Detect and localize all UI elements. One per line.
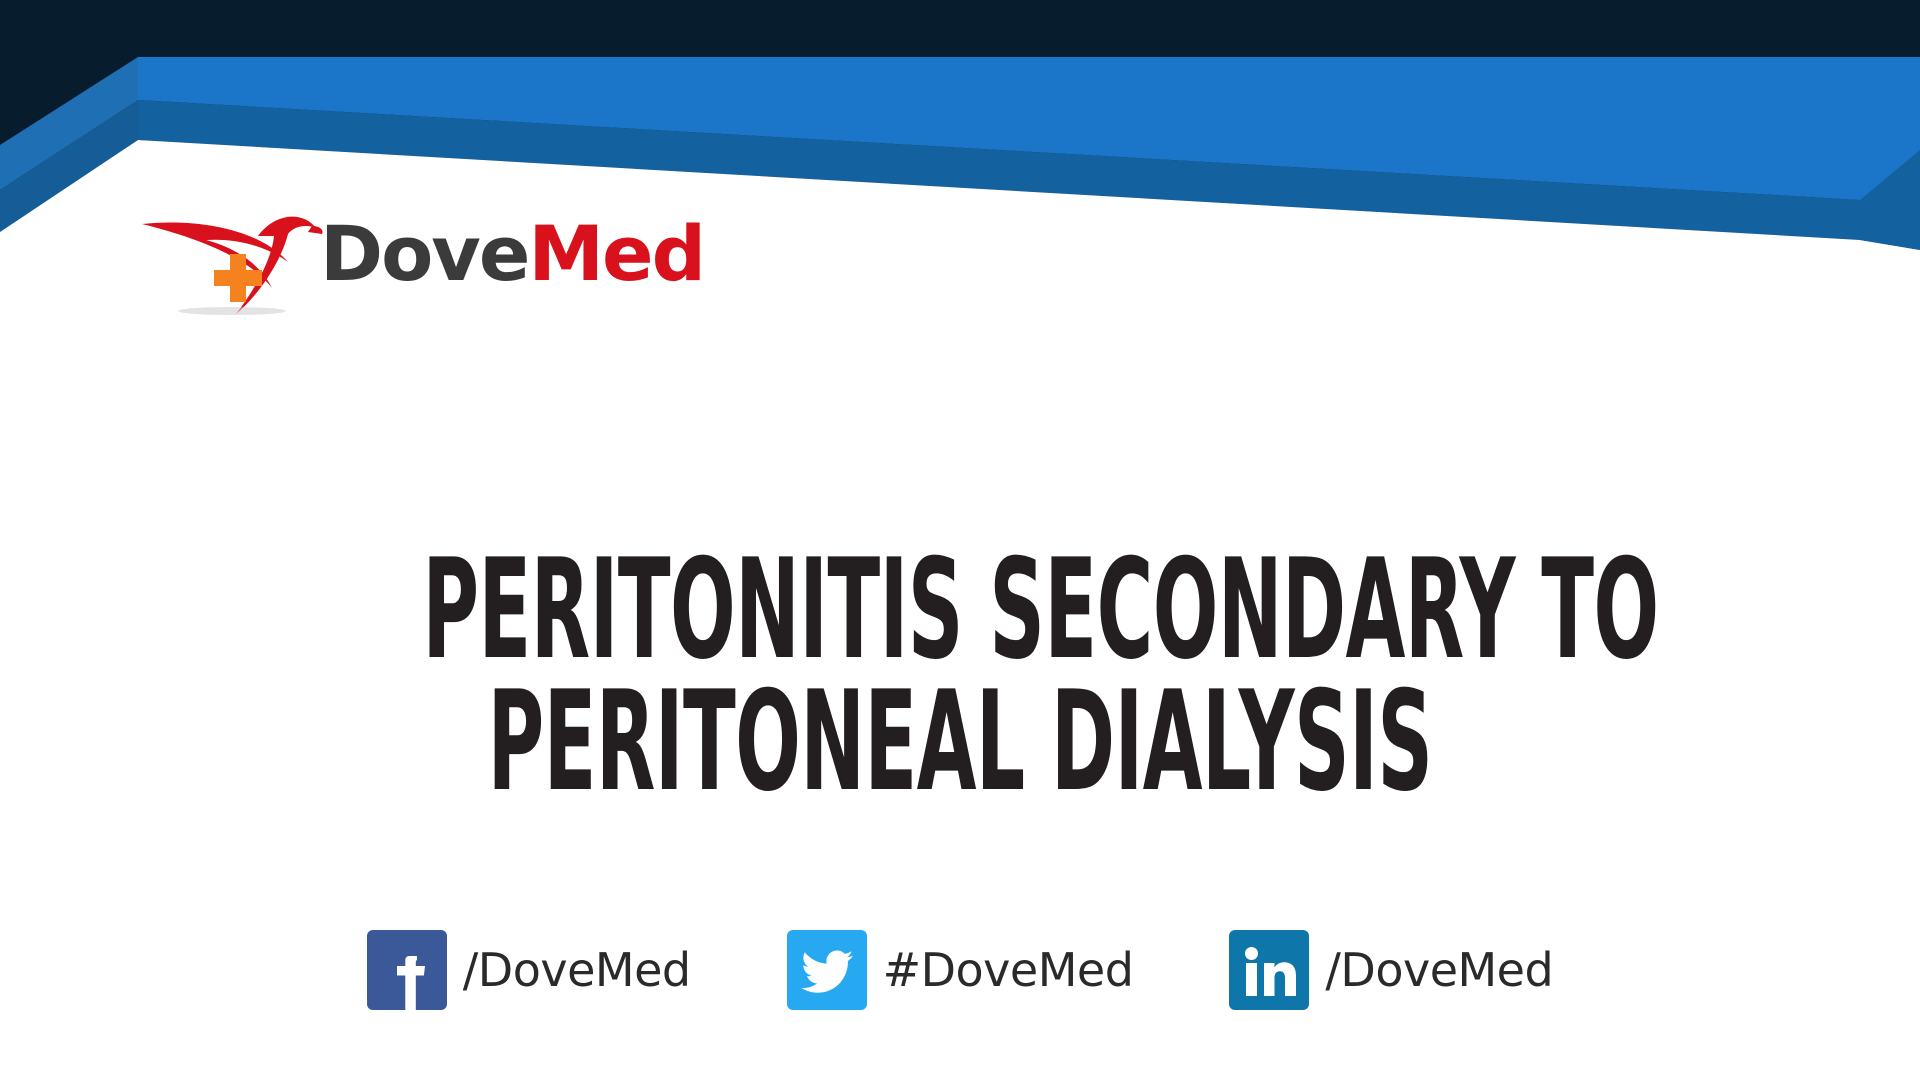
- social-item-linkedin[interactable]: /DoveMed: [1229, 930, 1553, 1010]
- social-links-row: /DoveMed #DoveMed /DoveMed: [0, 930, 1920, 1010]
- logo-word-dove: Dove: [320, 209, 528, 298]
- presentation-slide: DoveMed Peritonitis Secondary To Periton…: [0, 0, 1920, 1080]
- slide-title: Peritonitis Secondary To Peritoneal Dial…: [422, 544, 1497, 806]
- slide-title-line-2: Peritoneal Dialysis: [422, 676, 1497, 807]
- logo-shadow: [178, 307, 286, 315]
- twitter-handle: #DoveMed: [883, 943, 1134, 997]
- logo-wordmark: DoveMed: [320, 216, 704, 296]
- twitter-icon[interactable]: [787, 930, 867, 1010]
- slide-title-line-1: Peritonitis Secondary To: [422, 544, 1497, 675]
- facebook-handle: /DoveMed: [463, 943, 691, 997]
- dovemed-logo[interactable]: DoveMed: [140, 196, 704, 316]
- linkedin-icon[interactable]: [1229, 930, 1309, 1010]
- facebook-icon[interactable]: [367, 930, 447, 1010]
- social-item-twitter[interactable]: #DoveMed: [787, 930, 1134, 1010]
- linkedin-handle: /DoveMed: [1325, 943, 1553, 997]
- dove-beak-shape: [308, 226, 323, 234]
- dove-logo-icon: [140, 196, 336, 316]
- social-item-facebook[interactable]: /DoveMed: [367, 930, 691, 1010]
- logo-word-med: Med: [528, 209, 704, 298]
